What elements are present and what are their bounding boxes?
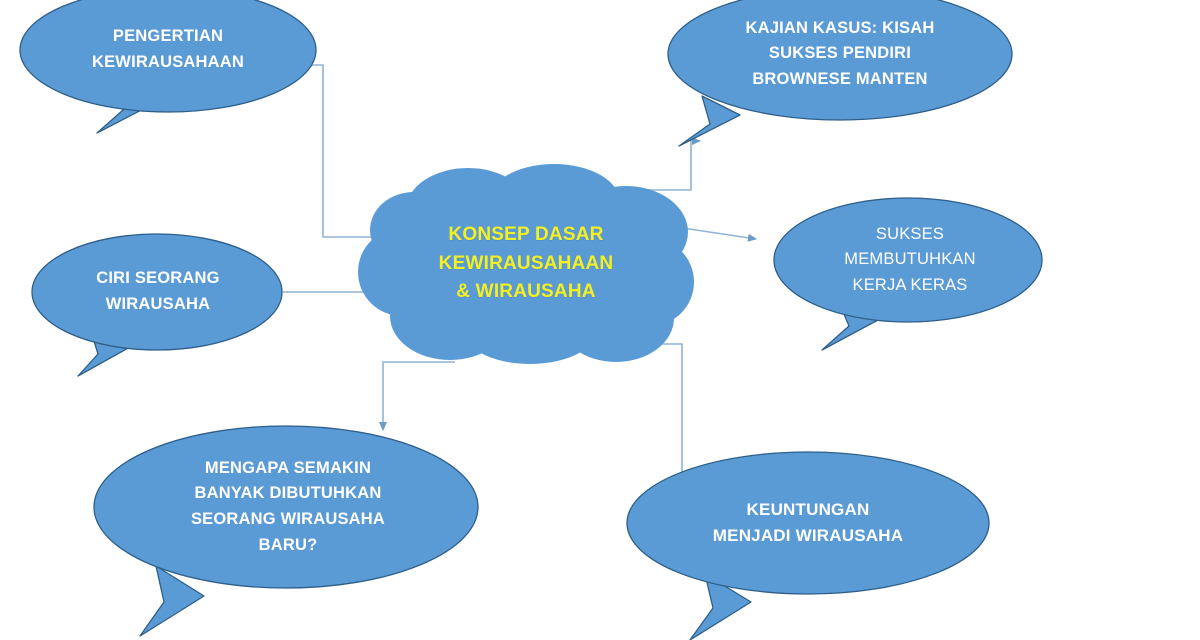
cloud-shape	[358, 164, 694, 364]
node-konsep-dasar-center[interactable]: KONSEP DASAR KEWIRAUSAHAAN & WIRAUSAHA	[358, 164, 694, 364]
connector-mengapa	[383, 362, 455, 430]
speech-bubble-shape	[18, 0, 318, 159]
node-keuntungan-menjadi-wirausaha[interactable]: KEUNTUNGAN MENJADI WIRAUSAHA	[625, 450, 991, 640]
node-mengapa-semakin-banyak[interactable]: MENGAPA SEMAKIN BANYAK DIBUTUHKAN SEORAN…	[92, 424, 484, 639]
node-ciri-seorang-wirausaha[interactable]: CIRI SEORANG WIRAUSAHA	[30, 232, 286, 397]
speech-bubble-shape	[92, 424, 484, 639]
speech-bubble-shape	[30, 232, 286, 397]
node-pengertian-kewirausahaan[interactable]: PENGERTIAN KEWIRAUSAHAAN	[18, 0, 318, 159]
speech-bubble-shape	[772, 196, 1048, 371]
node-kajian-kasus[interactable]: KAJIAN KASUS: KISAH SUKSES PENDIRI BROWN…	[666, 0, 1014, 166]
node-sukses-kerja-keras[interactable]: SUKSES MEMBUTUHKAN KERJA KERAS	[772, 196, 1048, 371]
mindmap-canvas: PENGERTIAN KEWIRAUSAHAAN KAJIAN KASUS: K…	[0, 0, 1200, 630]
speech-bubble-shape	[666, 0, 1014, 166]
speech-bubble-shape	[625, 450, 991, 640]
